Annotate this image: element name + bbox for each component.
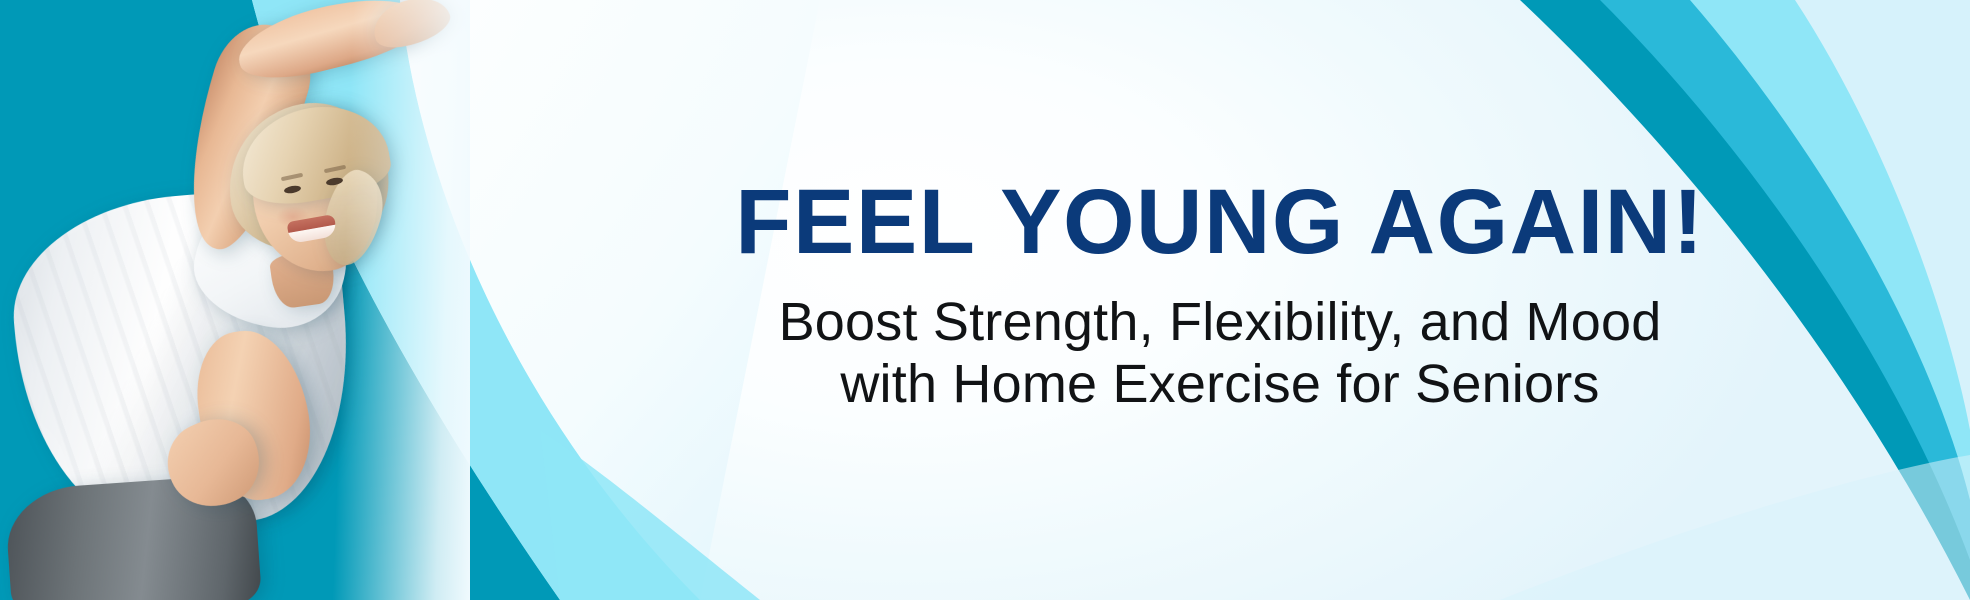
banner-subheadline-line-2: with Home Exercise for Seniors: [779, 354, 1662, 416]
hero-photo: [0, 0, 470, 600]
banner-headline: FEEL YOUNG AGAIN!: [735, 176, 1704, 268]
promo-banner: FEEL YOUNG AGAIN! Boost Strength, Flexib…: [0, 0, 1970, 600]
banner-subheadline: Boost Strength, Flexibility, and Mood wi…: [779, 292, 1662, 415]
hero-photo-stage: [0, 0, 470, 600]
banner-subheadline-line-1: Boost Strength, Flexibility, and Mood: [779, 292, 1662, 354]
banner-copy: FEEL YOUNG AGAIN! Boost Strength, Flexib…: [470, 0, 1970, 600]
